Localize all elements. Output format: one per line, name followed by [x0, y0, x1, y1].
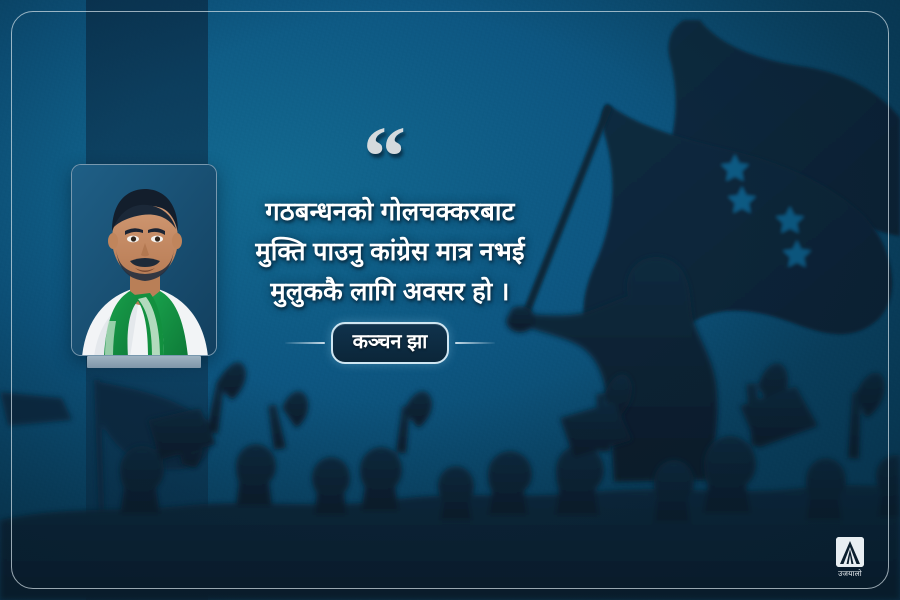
rule-right-icon	[455, 342, 495, 344]
brand-logo-text: उजयालो	[828, 569, 872, 578]
quote-line-1: गठबन्धनको गोलचक्करबाट	[180, 192, 600, 232]
attribution-row: कञ्चन झा	[180, 322, 600, 364]
open-quote-icon: “	[363, 122, 408, 191]
quote-line-2: मुक्ति पाउनु कांग्रेस मात्र नभई	[180, 232, 600, 272]
rule-left-icon	[285, 342, 325, 344]
quote-text: गठबन्धनको गोलचक्करबाट मुक्ति पाउनु कांग्…	[180, 192, 600, 312]
speaker-name-badge: कञ्चन झा	[331, 322, 450, 364]
quote-line-3: मुलुककै लागि अवसर हो ।	[180, 272, 600, 312]
quote-poster: “ गठबन्धनको गोलचक्करबाट मुक्ति पाउनु कां…	[0, 0, 900, 600]
arch-logo-icon	[836, 537, 864, 567]
brand-logo: उजयालो	[828, 537, 872, 578]
